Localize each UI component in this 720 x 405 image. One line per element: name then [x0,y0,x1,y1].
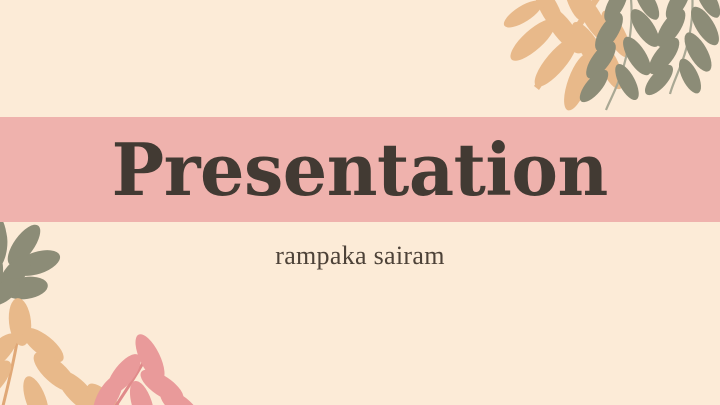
title-band: Presentation [0,117,720,222]
page-title: Presentation [112,134,608,206]
tan-stem-bottom-left [0,297,131,405]
tan-fern-branch-top-right [500,0,636,114]
pink-stem-bottom-left [87,330,205,405]
subtitle-author-name: rampaka sairam [275,241,445,270]
green-vine-top-right-outer [640,0,720,99]
presentation-slide: Presentation rampaka sairam [0,0,720,405]
subtitle-container: rampaka sairam [0,240,720,271]
green-vine-top-right-inner [575,0,665,110]
